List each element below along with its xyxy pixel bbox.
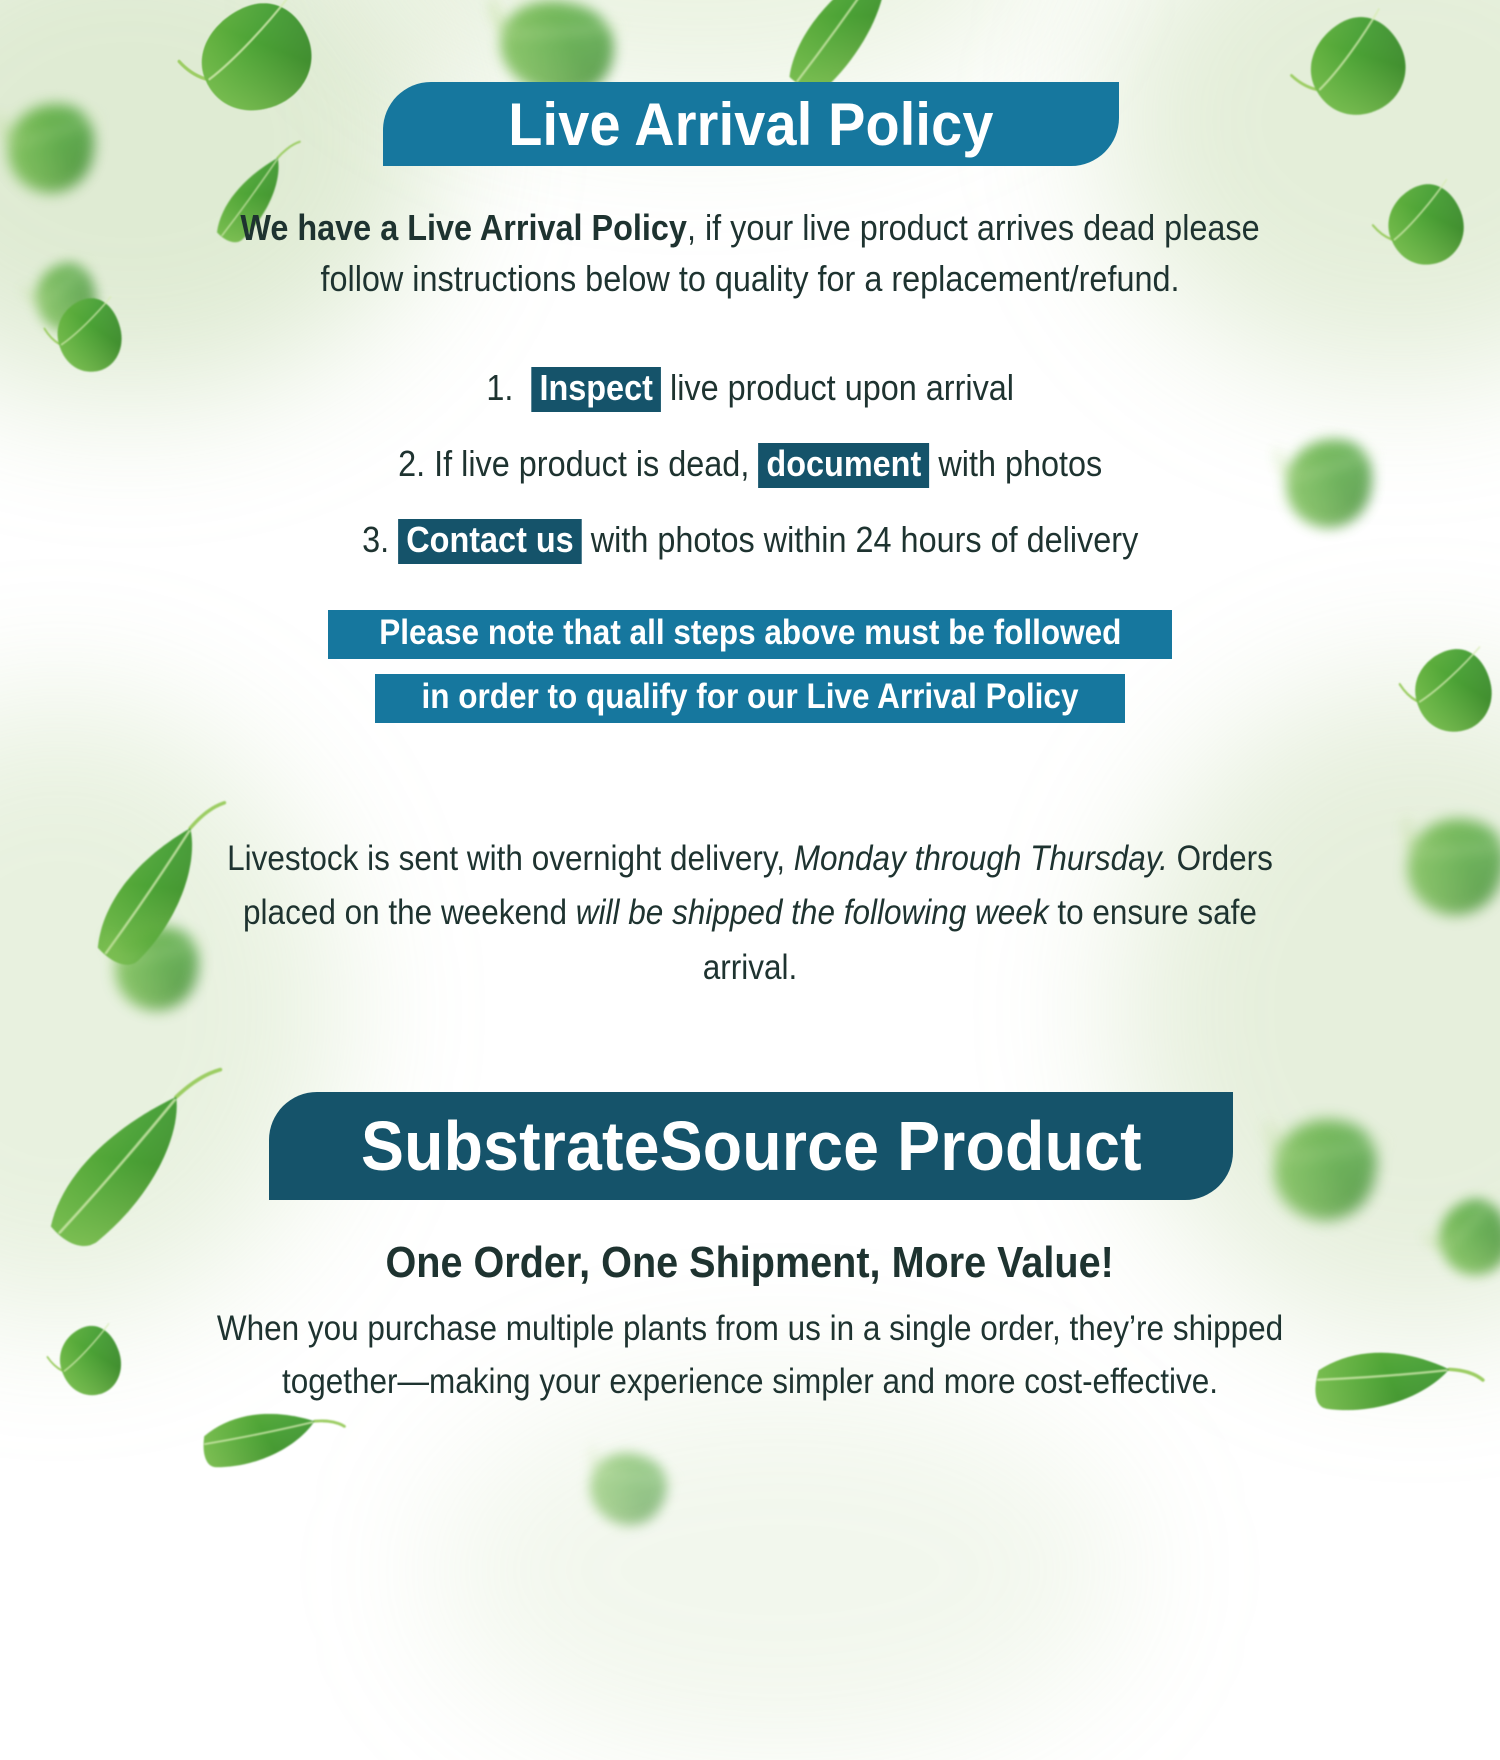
list-item: 3. Contact us with photos within 24 hour… bbox=[150, 514, 1350, 565]
policy-note-text-1: Please note that all steps above must be… bbox=[379, 615, 1121, 652]
brand-title: SubstrateSource Product bbox=[361, 1106, 1142, 1186]
step-after: live product upon arrival bbox=[661, 367, 1014, 408]
policy-note-line-1: Please note that all steps above must be… bbox=[150, 608, 1350, 659]
policy-note-text-2: in order to qualify for our Live Arrival… bbox=[422, 679, 1079, 716]
value-paragraph: When you purchase multiple plants from u… bbox=[150, 1302, 1350, 1408]
steps-list: 1. Inspect live product upon arrival 2. … bbox=[150, 362, 1350, 590]
value-paragraph-text: When you purchase multiple plants from u… bbox=[210, 1302, 1290, 1408]
step-highlight: Inspect bbox=[531, 367, 661, 412]
step-number: 2. bbox=[398, 443, 425, 484]
step-before: If live product is dead, bbox=[425, 443, 758, 484]
intro-paragraph: We have a Live Arrival Policy, if your l… bbox=[150, 202, 1350, 304]
value-heading-text: One Order, One Shipment, More Value! bbox=[386, 1232, 1114, 1294]
shipping-part-1: Livestock is sent with overnight deliver… bbox=[227, 839, 794, 878]
list-item: 1. Inspect live product upon arrival bbox=[150, 362, 1350, 413]
brand-banner: SubstrateSource Product bbox=[269, 1092, 1233, 1200]
shipping-paragraph: Livestock is sent with overnight deliver… bbox=[150, 832, 1350, 995]
step-highlight: Contact us bbox=[398, 519, 582, 564]
shipping-italic-2: will be shipped the following week bbox=[576, 893, 1049, 932]
step-after: with photos bbox=[929, 443, 1102, 484]
policy-note-line-2: in order to qualify for our Live Arrival… bbox=[150, 672, 1350, 723]
list-item: 2. If live product is dead, document wit… bbox=[150, 438, 1350, 489]
page-content: Live Arrival Policy We have a Live Arriv… bbox=[0, 0, 1500, 1500]
step-after: with photos within 24 hours of delivery bbox=[582, 519, 1138, 560]
policy-note: Please note that all steps above must be… bbox=[150, 608, 1350, 736]
page-title: Live Arrival Policy bbox=[508, 90, 993, 159]
shipping-italic-1: Monday through Thursday. bbox=[794, 839, 1168, 878]
step-number: 3. bbox=[362, 519, 389, 560]
step-number: 1. bbox=[486, 367, 513, 408]
title-banner: Live Arrival Policy bbox=[383, 82, 1119, 166]
intro-bold-lead: We have a Live Arrival Policy bbox=[240, 207, 687, 248]
step-highlight: document bbox=[758, 443, 929, 488]
step-before bbox=[389, 519, 398, 560]
value-heading: One Order, One Shipment, More Value! bbox=[150, 1232, 1350, 1294]
